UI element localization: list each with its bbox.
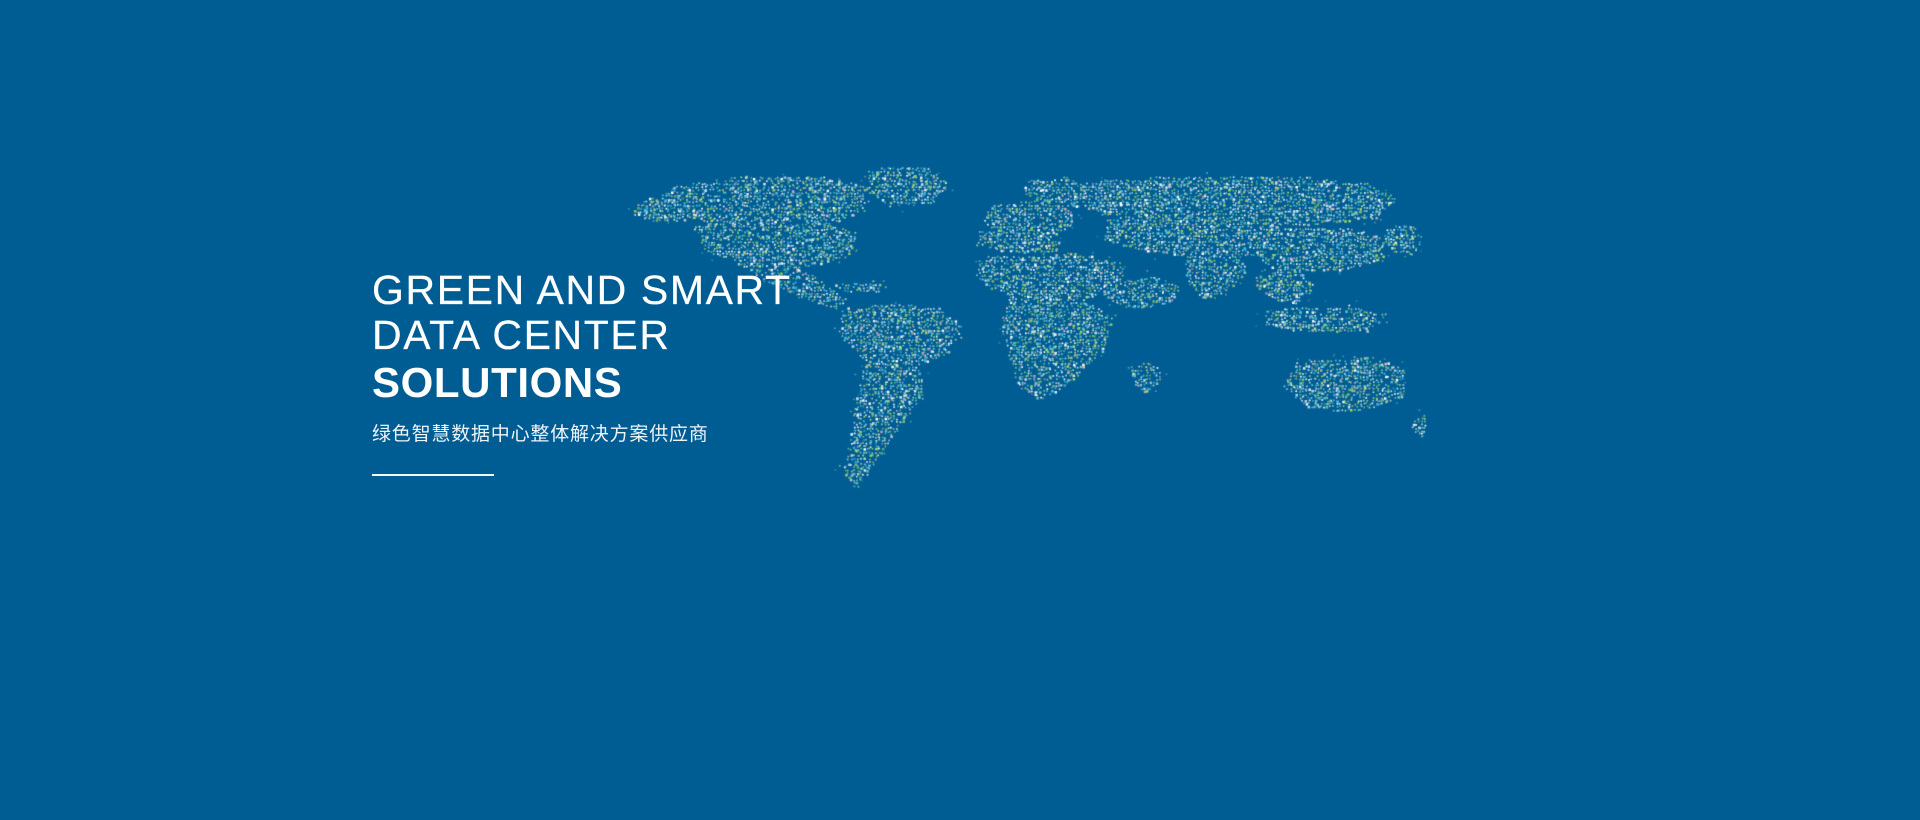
headline-line-2: DATA CENTER bbox=[372, 313, 992, 358]
hero-text-block: GREEN AND SMART DATA CENTER SOLUTIONS 绿色… bbox=[372, 268, 992, 476]
headline-line-1: GREEN AND SMART bbox=[372, 268, 992, 313]
hero-banner: GREEN AND SMART DATA CENTER SOLUTIONS 绿色… bbox=[0, 0, 1920, 820]
hero-subtitle: 绿色智慧数据中心整体解决方案供应商 bbox=[372, 422, 992, 448]
hero-divider bbox=[372, 474, 494, 476]
headline-line-3: SOLUTIONS bbox=[372, 358, 992, 408]
